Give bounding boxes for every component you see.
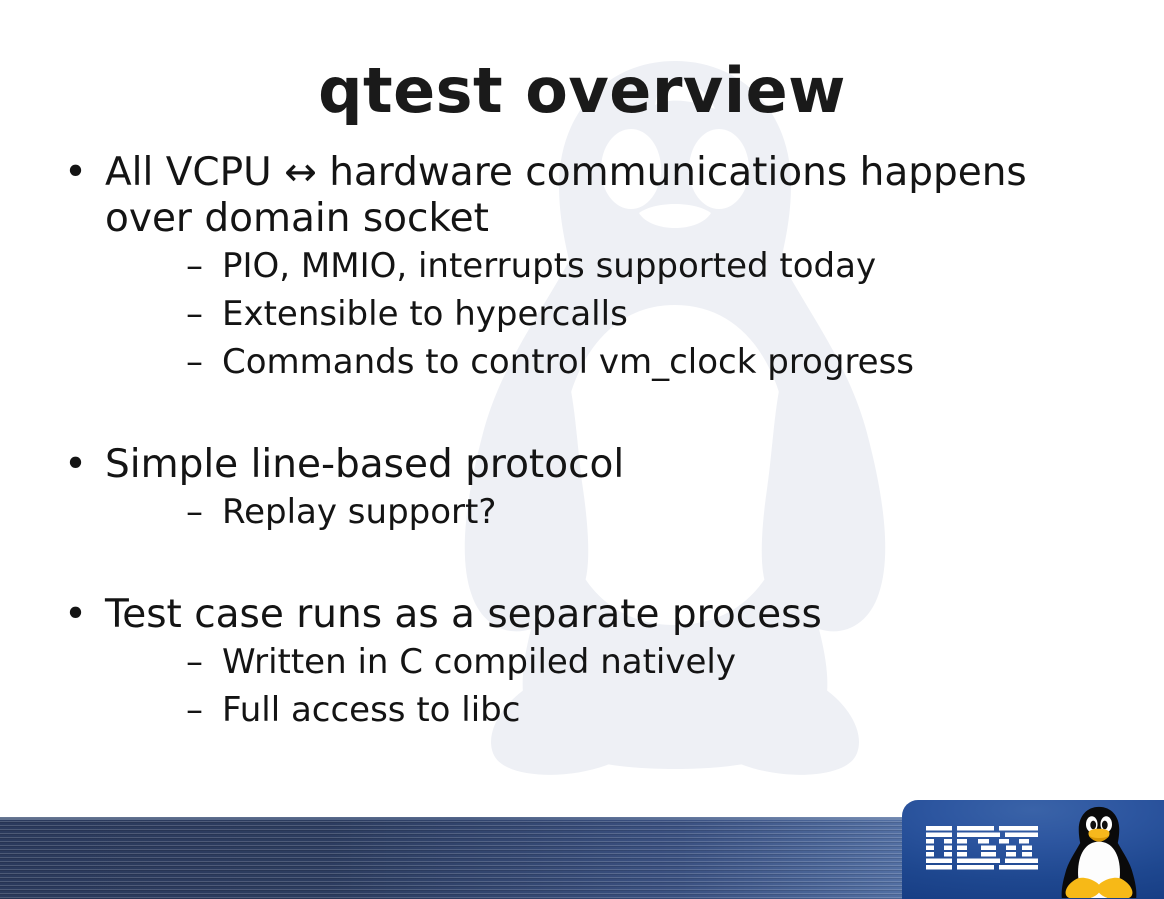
ibm-wordmark-icon	[926, 826, 1038, 874]
bullet-group-spacer	[0, 536, 1164, 592]
dash-marker-icon: –	[186, 338, 203, 386]
bullet-dot-icon: •	[64, 150, 87, 196]
bullet-text: Commands to control vm_clock progress	[222, 342, 914, 382]
bullet-text-line: Test case runs as a separate process	[105, 592, 1164, 638]
dash-marker-icon: –	[186, 290, 203, 338]
bullet-text: Full access to libc	[222, 690, 520, 730]
bullet-item-level1: • All VCPU ↔ hardware communications hap…	[0, 150, 1164, 242]
dash-marker-icon: –	[186, 638, 203, 686]
bullet-text-line: All VCPU ↔ hardware communications happe…	[105, 150, 1164, 196]
dash-marker-icon: –	[186, 686, 203, 734]
bullet-item-level1: • Simple line-based protocol	[0, 442, 1164, 488]
bullet-text: Written in C compiled natively	[222, 642, 736, 682]
ibm-logo-box	[902, 800, 1164, 899]
bullet-item-level2: – Full access to libc	[0, 686, 1164, 734]
bullet-text-line: Simple line-based protocol	[105, 442, 1164, 488]
bullet-text: PIO, MMIO, interrupts supported today	[222, 246, 876, 286]
bullet-item-level2: – Replay support?	[0, 488, 1164, 536]
bullet-text: Extensible to hypercalls	[222, 294, 628, 334]
bullet-item-level2: – PIO, MMIO, interrupts supported today	[0, 242, 1164, 290]
bullet-item-level2: – Commands to control vm_clock progress	[0, 338, 1164, 386]
bullet-dot-icon: •	[64, 442, 87, 488]
bullet-text-line: over domain socket	[105, 196, 1164, 242]
slide-title: qtest overview	[0, 58, 1164, 123]
presentation-slide: qtest overview • All VCPU ↔ hardware com…	[0, 0, 1164, 899]
dash-marker-icon: –	[186, 242, 203, 290]
bullet-item-level1: • Test case runs as a separate process	[0, 592, 1164, 638]
tux-penguin-icon	[1054, 804, 1144, 898]
bullet-item-level2: – Extensible to hypercalls	[0, 290, 1164, 338]
slide-body: • All VCPU ↔ hardware communications hap…	[0, 150, 1164, 734]
bullet-dot-icon: •	[64, 592, 87, 638]
dash-marker-icon: –	[186, 488, 203, 536]
bullet-group-spacer	[0, 386, 1164, 442]
bullet-text: Replay support?	[222, 492, 496, 532]
bullet-item-level2: – Written in C compiled natively	[0, 638, 1164, 686]
